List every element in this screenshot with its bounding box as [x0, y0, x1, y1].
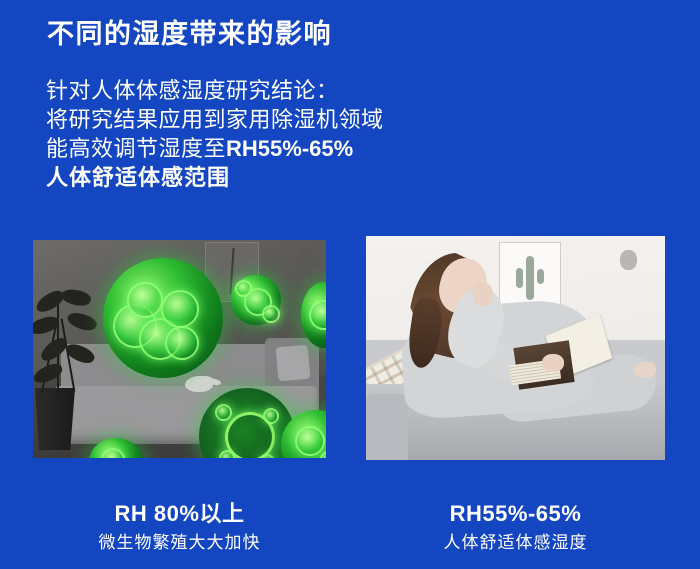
microbe-cell [309, 300, 326, 330]
wall-speaker-icon [301, 249, 313, 263]
caption-high-humidity: RH 80%以上 微生物繁殖大大加快 [33, 500, 326, 555]
caption-subtitle: 微生物繁殖大大加快 [33, 531, 326, 555]
microbe-cell [101, 448, 125, 458]
sofa-cushion [276, 345, 311, 382]
microbe-cell [127, 282, 163, 318]
caption-title: RH55%-65% [366, 500, 665, 528]
microbe-cell [235, 280, 252, 297]
intro-line-1: 针对人体体感湿度研究结论： [46, 76, 384, 105]
microbe-cell [215, 404, 232, 421]
intro-line-3-prefix: 能高效调节湿度至 [46, 136, 226, 161]
plant-leaf [33, 361, 65, 385]
wall-art-frame [499, 242, 561, 306]
photo-comfort-humidity [366, 236, 665, 460]
sofa-armrest [366, 394, 408, 460]
wall-speaker-icon [620, 250, 637, 270]
microbe-sphere-large [103, 258, 223, 378]
humidity-infographic-poster: 不同的湿度带来的影响 针对人体体感湿度研究结论： 将研究结果应用到家用除湿机领域… [0, 0, 700, 569]
microbe-cell [263, 408, 279, 424]
microbe-cell [165, 326, 199, 360]
photo-high-humidity [33, 240, 326, 458]
potted-plant [33, 288, 107, 398]
cactus-artwork [526, 256, 534, 300]
intro-line-4: 人体舒适体感范围 [46, 163, 384, 192]
caption-comfort-humidity: RH55%-65% 人体舒适体感湿度 [366, 500, 665, 555]
caption-title: RH 80%以上 [33, 500, 326, 528]
scene-dim-living-room [33, 240, 326, 458]
microbe-cell [295, 426, 325, 456]
microbe-cell [262, 305, 280, 323]
intro-line-3: 能高效调节湿度至RH55%-65% [46, 134, 384, 163]
plant-leaf [65, 309, 98, 334]
intro-line-2: 将研究结果应用到家用除湿机领域 [46, 105, 384, 134]
scene-bright-living-room [366, 236, 665, 460]
microbe-sphere-small [231, 275, 281, 325]
intro-line-3-highlight: RH55%-65% [226, 136, 353, 161]
microbe-cell [161, 290, 199, 328]
intro-paragraph: 针对人体体感湿度研究结论： 将研究结果应用到家用除湿机领域 能高效调节湿度至RH… [46, 76, 384, 192]
person-foot [634, 362, 656, 378]
plant-leaf [60, 286, 93, 309]
page-title: 不同的湿度带来的影响 [47, 16, 332, 52]
person-hand-holding-book [542, 354, 564, 372]
microbe-cell [259, 454, 275, 458]
caption-subtitle: 人体舒适体感湿度 [366, 531, 665, 555]
bird-ornament [185, 376, 213, 392]
